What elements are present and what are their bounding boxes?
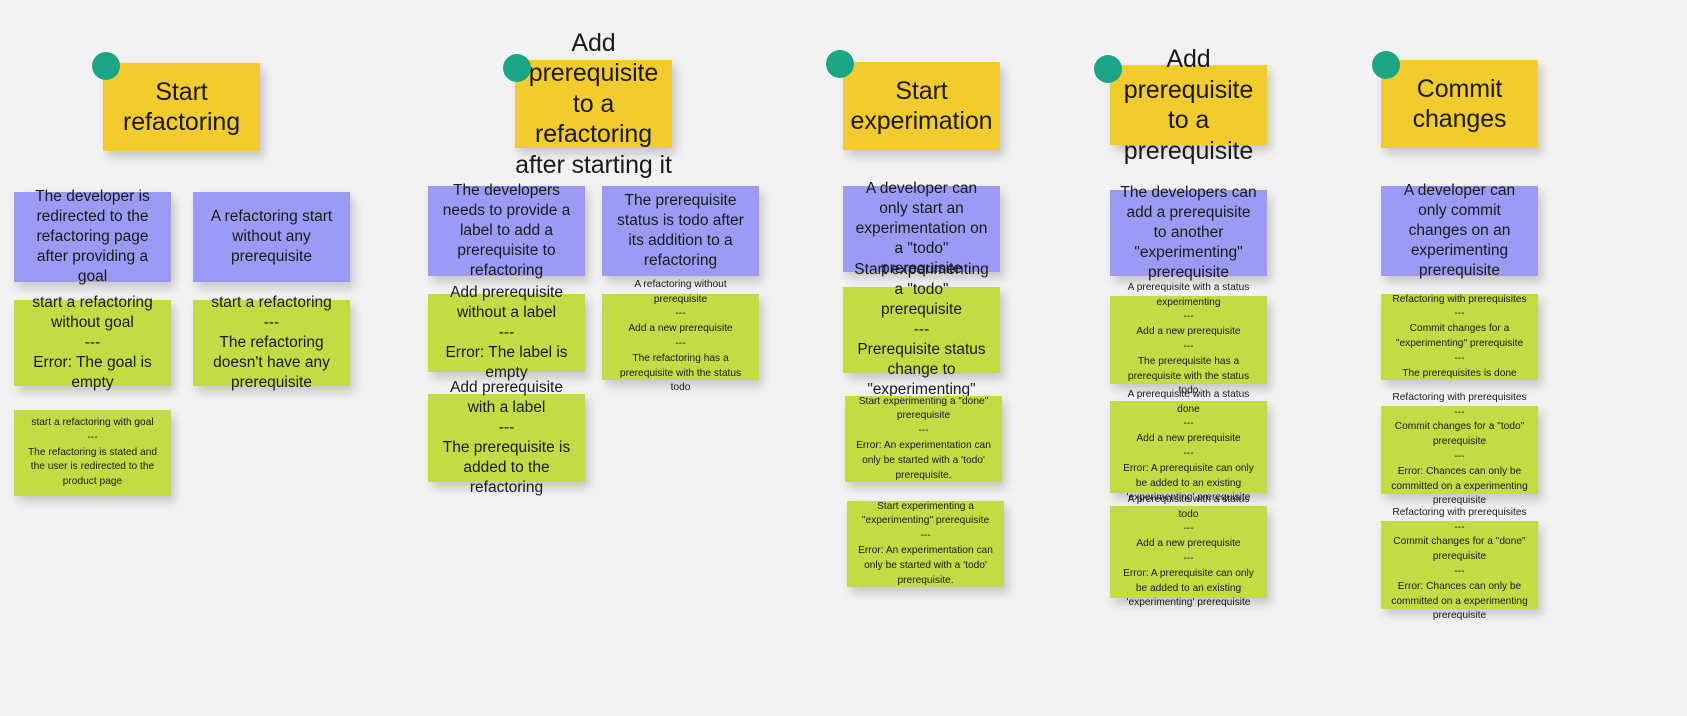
test-note[interactable]: start a refactoring with goal --- The re… [14, 410, 171, 496]
test-note[interactable]: Start experimenting a "todo" prerequisit… [843, 287, 1000, 373]
story-map-board: Start refactoringThe developer is redire… [0, 0, 1687, 716]
test-note[interactable]: Add prerequisite with a label --- The pr… [428, 394, 585, 482]
marker-dot-icon [92, 52, 120, 80]
story-note[interactable]: The prerequisite status is todo after it… [602, 186, 759, 276]
test-note[interactable]: start a refactoring --- The refactoring … [193, 300, 350, 386]
marker-dot-icon [503, 54, 531, 82]
test-note[interactable]: A prerequisite with a status experimenti… [1110, 296, 1267, 384]
epic-note[interactable]: Commit changes [1381, 60, 1538, 148]
story-note[interactable]: The developer is redirected to the refac… [14, 192, 171, 282]
epic-note[interactable]: Add prerequisite to a refactoring after … [515, 60, 672, 148]
story-note[interactable]: The developers needs to provide a label … [428, 186, 585, 276]
test-note[interactable]: Refactoring with prerequisites --- Commi… [1381, 406, 1538, 494]
test-note[interactable]: Refactoring with prerequisites --- Commi… [1381, 294, 1538, 380]
story-note[interactable]: A developer can only commit changes on a… [1381, 186, 1538, 276]
test-note[interactable]: A prerequisite with a status done --- Ad… [1110, 401, 1267, 493]
test-note[interactable]: Start experimenting a "done" prerequisit… [845, 396, 1002, 482]
marker-dot-icon [1372, 51, 1400, 79]
marker-dot-icon [826, 50, 854, 78]
epic-note[interactable]: Start refactoring [103, 63, 260, 151]
test-note[interactable]: Add prerequisite without a label --- Err… [428, 294, 585, 372]
test-note[interactable]: A refactoring without prerequisite --- A… [602, 294, 759, 380]
test-note[interactable]: start a refactoring without goal --- Err… [14, 300, 171, 386]
test-note[interactable]: Start experimenting a "experimenting" pr… [847, 501, 1004, 587]
story-note[interactable]: The developers can add a prerequisite to… [1110, 190, 1267, 276]
story-note[interactable]: A refactoring start without any prerequi… [193, 192, 350, 282]
epic-note[interactable]: Start experimation [843, 62, 1000, 150]
epic-note[interactable]: Add prerequisite to a prerequisite [1110, 65, 1267, 145]
test-note[interactable]: A prerequisite with a status todo --- Ad… [1110, 506, 1267, 598]
marker-dot-icon [1094, 55, 1122, 83]
test-note[interactable]: Refactoring with prerequisites --- Commi… [1381, 521, 1538, 609]
